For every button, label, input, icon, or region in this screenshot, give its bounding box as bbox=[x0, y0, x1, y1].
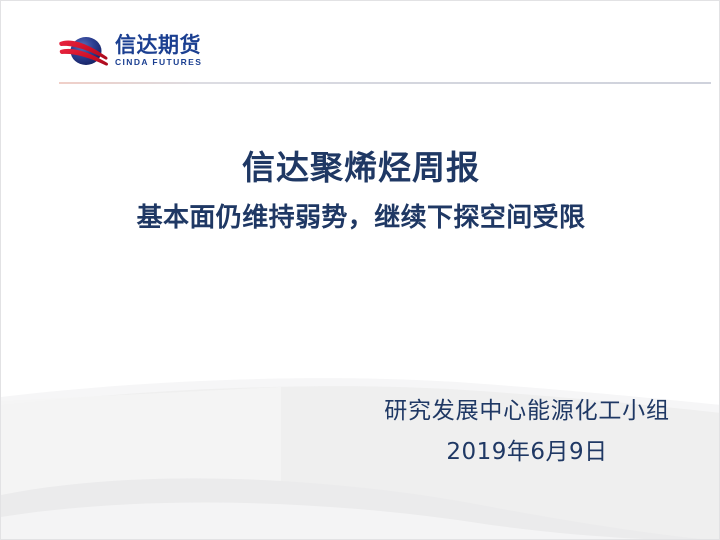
title-group: 信达聚烯烃周报 基本面仍维持弱势，继续下探空间受限 bbox=[1, 149, 720, 234]
logo-wordmark: 信达期货 CINDA FUTURES bbox=[115, 35, 202, 67]
author-date: 2019年6月9日 bbox=[379, 438, 675, 467]
brand-logo: 信达期货 CINDA FUTURES bbox=[59, 28, 279, 74]
logo-company-name-en: CINDA FUTURES bbox=[115, 58, 202, 67]
slide-subtitle: 基本面仍维持弱势，继续下探空间受限 bbox=[1, 202, 720, 235]
wave-panel-left bbox=[1, 387, 281, 540]
cinda-futures-logo-mark-icon bbox=[59, 32, 109, 70]
wave-band-bottom bbox=[1, 503, 720, 540]
slide-main-title: 信达聚烯烃周报 bbox=[1, 149, 720, 188]
presentation-title-slide: 信达期货 CINDA FUTURES 信达聚烯烃周报 基本面仍维持弱势，继续下探… bbox=[0, 0, 720, 540]
header-divider-rule bbox=[59, 82, 711, 84]
author-organization: 研究发展中心能源化工小组 bbox=[379, 397, 675, 426]
wave-band-lower bbox=[1, 478, 720, 540]
author-block: 研究发展中心能源化工小组 2019年6月9日 bbox=[379, 397, 675, 467]
logo-company-name-cn: 信达期货 bbox=[115, 35, 202, 56]
